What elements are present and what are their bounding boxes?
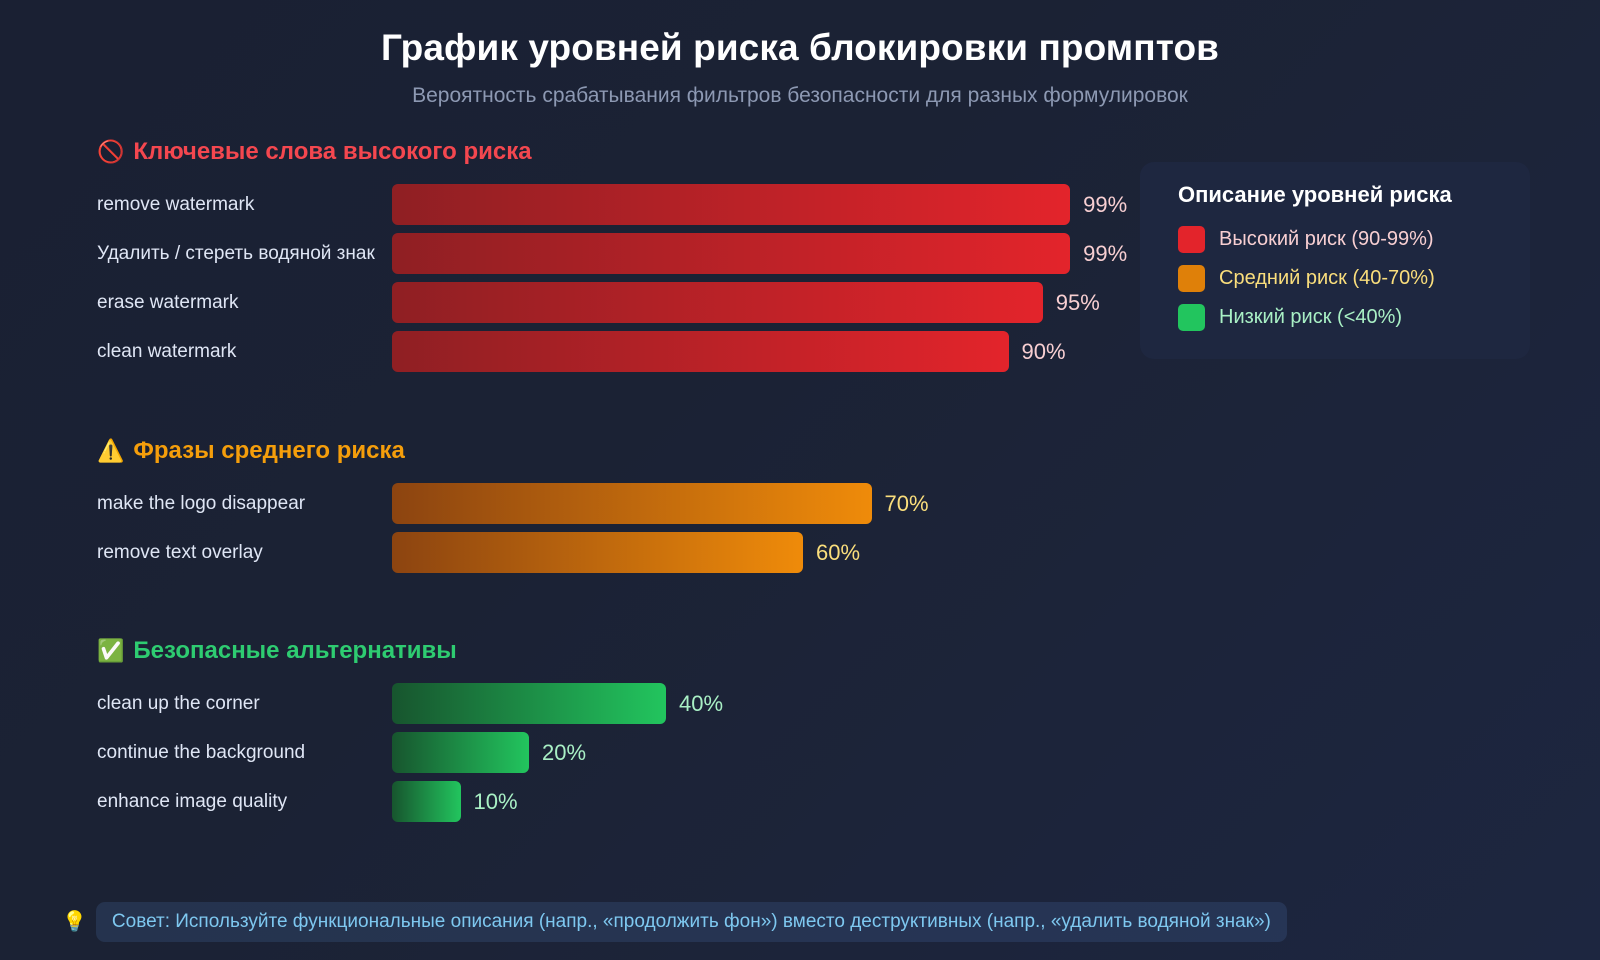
bar-label: make the logo disappear (97, 493, 392, 515)
legend-title: Описание уровней риска (1178, 182, 1506, 208)
bar-label: clean watermark (97, 341, 392, 363)
legend-swatch-medium-risk (1178, 265, 1205, 292)
page-title: График уровней риска блокировки промптов (0, 26, 1600, 70)
bar-label: clean up the corner (97, 693, 392, 715)
bar-track: 95% (392, 282, 1100, 323)
bar-value: 40% (679, 691, 723, 717)
risk-legend-panel: Описание уровней риска Высокий риск (90-… (1140, 162, 1530, 359)
bar-track: 99% (392, 233, 1127, 274)
legend-item-medium-risk: Средний риск (40-70%) (1178, 259, 1506, 298)
page-header: График уровней риска блокировки промптов… (0, 0, 1600, 108)
tip-text: Совет: Используйте функциональные описан… (96, 902, 1287, 942)
section-high-risk-header: 🚫 Ключевые слова высокого риска (97, 140, 1600, 164)
section-medium-risk-header: ⚠️ Фразы среднего риска (97, 439, 1600, 463)
bar-row: enhance image quality 10% (97, 777, 1600, 826)
prohibited-icon: 🚫 (97, 141, 124, 163)
bar-value: 10% (474, 789, 518, 815)
bar-value: 99% (1083, 241, 1127, 267)
bar-value: 60% (816, 540, 860, 566)
bar-fill (392, 532, 803, 573)
bar-fill (392, 483, 872, 524)
lightbulb-icon: 💡 (62, 912, 87, 932)
bar-track: 70% (392, 483, 929, 524)
bar-track: 40% (392, 683, 723, 724)
section-safe-alternatives-header: ✅ Безопасные альтернативы (97, 639, 1600, 663)
bar-fill (392, 282, 1043, 323)
bar-label: continue the background (97, 742, 392, 764)
section-spacer (97, 577, 1600, 639)
bar-row: remove text overlay 60% (97, 528, 1600, 577)
bar-track: 20% (392, 732, 586, 773)
bar-label: enhance image quality (97, 791, 392, 813)
bar-rows-medium: make the logo disappear 70% remove text … (97, 479, 1600, 577)
legend-label-low-risk: Низкий риск (<40%) (1219, 306, 1402, 329)
bar-row: make the logo disappear 70% (97, 479, 1600, 528)
bar-value: 20% (542, 740, 586, 766)
legend-swatch-low-risk (1178, 304, 1205, 331)
legend-item-high-risk: Высокий риск (90-99%) (1178, 220, 1506, 259)
legend-label-medium-risk: Средний риск (40-70%) (1219, 267, 1435, 290)
bar-value: 99% (1083, 192, 1127, 218)
section-safe-alternatives: ✅ Безопасные альтернативы clean up the c… (97, 639, 1600, 826)
bar-value: 95% (1056, 290, 1100, 316)
bar-fill (392, 233, 1070, 274)
bar-label: remove watermark (97, 194, 392, 216)
bar-track: 10% (392, 781, 518, 822)
bar-label: Удалить / стереть водяной знак (97, 243, 392, 265)
bar-track: 60% (392, 532, 860, 573)
bar-fill (392, 732, 529, 773)
section-medium-risk-title: Фразы среднего риска (133, 439, 404, 463)
bar-value: 90% (1022, 339, 1066, 365)
check-mark-icon: ✅ (97, 640, 124, 662)
bar-fill (392, 781, 461, 822)
section-medium-risk: ⚠️ Фразы среднего риска make the logo di… (97, 439, 1600, 577)
bar-track: 90% (392, 331, 1066, 372)
tip-banner: 💡 Совет: Используйте функциональные опис… (62, 902, 1287, 942)
warning-icon: ⚠️ (97, 440, 124, 462)
bar-label: remove text overlay (97, 542, 392, 564)
bar-label: erase watermark (97, 292, 392, 314)
section-safe-alternatives-title: Безопасные альтернативы (133, 639, 456, 663)
page-subtitle: Вероятность срабатывания фильтров безопа… (0, 84, 1600, 108)
bar-fill (392, 331, 1009, 372)
bar-row: clean up the corner 40% (97, 679, 1600, 728)
section-high-risk-title: Ключевые слова высокого риска (133, 140, 531, 164)
legend-label-high-risk: Высокий риск (90-99%) (1219, 228, 1434, 251)
legend-swatch-high-risk (1178, 226, 1205, 253)
section-spacer (97, 376, 1600, 439)
legend-item-low-risk: Низкий риск (<40%) (1178, 298, 1506, 337)
bar-fill (392, 683, 666, 724)
bar-fill (392, 184, 1070, 225)
bar-track: 99% (392, 184, 1127, 225)
bar-value: 70% (885, 491, 929, 517)
bar-row: continue the background 20% (97, 728, 1600, 777)
bar-rows-low: clean up the corner 40% continue the bac… (97, 679, 1600, 826)
